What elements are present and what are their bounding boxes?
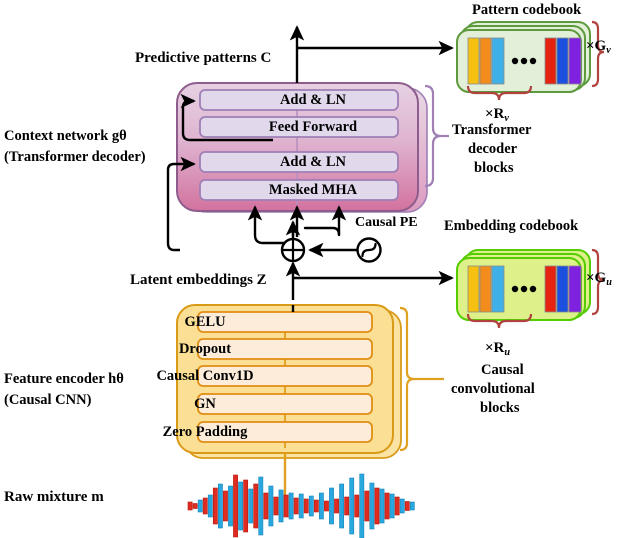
- predictive-output-arrows: [297, 27, 452, 83]
- waveform-bar: [254, 484, 258, 528]
- mha-fanout-right: [305, 228, 339, 235]
- sum-node-group: [282, 239, 304, 261]
- predictive-patterns-label: Predictive patterns C: [135, 50, 271, 68]
- embedding-ellipsis-dot-0: [512, 286, 518, 292]
- waveform-bar: [264, 493, 268, 519]
- waveform-bar: [324, 501, 328, 511]
- pattern-entry-4: [557, 38, 568, 84]
- transformer-layer-label-1: Feed Forward: [0, 119, 626, 136]
- waveform-bar: [304, 499, 308, 513]
- waveform-bar: [289, 493, 293, 519]
- waveform-bar: [360, 474, 364, 538]
- waveform-bar: [410, 502, 414, 510]
- waveform-bar: [375, 488, 379, 524]
- causal-pe-node: [358, 239, 381, 262]
- waveform-bar: [314, 500, 318, 512]
- waveform-bar: [198, 500, 202, 512]
- waveform-bar: [380, 489, 384, 523]
- pattern-entry-0: [468, 38, 479, 84]
- waveform-bar: [223, 491, 227, 521]
- waveform-bar: [340, 484, 344, 528]
- diagram-canvas: Predictive patterns C Context network gθ…: [0, 0, 626, 538]
- waveform-bar: [193, 504, 197, 509]
- waveform-bar: [218, 484, 222, 528]
- latent-embeddings-label: Latent embeddings Z: [130, 272, 267, 290]
- waveform-bar: [365, 491, 369, 521]
- embedding-entry-3: [545, 266, 556, 312]
- waveform-bar: [244, 480, 248, 532]
- embedding-codebook-title: Embedding codebook: [444, 218, 578, 235]
- waveform-bar: [203, 498, 207, 514]
- waveform-bar: [259, 477, 263, 535]
- encoder-layer-label-0: GELU: [0, 314, 518, 331]
- waveform-bar: [319, 493, 323, 519]
- diagram-svg: [0, 0, 626, 538]
- waveform-bar: [294, 498, 298, 514]
- pattern-ellipsis-dot-0: [512, 58, 518, 64]
- waveform-bar: [400, 499, 404, 513]
- causal-pe-label: Causal PE: [355, 215, 418, 232]
- encoder-layer-label-4: Zero Padding: [0, 424, 518, 441]
- transformer-layer-label-2: Add & LN: [0, 154, 626, 171]
- waveform-bar: [334, 499, 338, 513]
- waveform-bar: [269, 486, 273, 526]
- waveform-bar: [213, 488, 217, 524]
- waveform-bar: [370, 483, 374, 529]
- embedding-entry-1: [480, 266, 491, 312]
- waveform-bar: [385, 493, 389, 519]
- pattern-codebook: [457, 22, 604, 100]
- embedding-ellipsis-dot-2: [530, 286, 536, 292]
- embedding-entry-0: [468, 266, 479, 312]
- waveform-bar: [405, 502, 409, 511]
- waveform-bar: [350, 478, 354, 534]
- waveform-bar: [395, 497, 399, 515]
- waveform-bar: [274, 497, 278, 515]
- pattern-ellipsis-dot-1: [521, 58, 527, 64]
- embedding-ellipsis-dot-1: [521, 286, 527, 292]
- embedding-entry-4: [557, 266, 568, 312]
- waveform-bar: [309, 496, 313, 516]
- pattern-entry-3: [545, 38, 556, 84]
- encoder-layer-label-3: GN: [0, 396, 518, 413]
- waveform-bar: [249, 489, 253, 523]
- waveform-bar: [329, 488, 333, 524]
- waveform-bar: [299, 494, 303, 518]
- waveform-bar: [284, 495, 288, 517]
- embedding-entry-2: [492, 266, 504, 312]
- pattern-entry-1: [480, 38, 491, 84]
- waveform-bar: [228, 486, 232, 526]
- pattern-codebook-title: Pattern codebook: [472, 2, 581, 19]
- encoder-layer-label-2: Causal Conv1D: [0, 368, 518, 385]
- transformer-layer-label-0: Add & LN: [0, 92, 626, 109]
- raw-mixture-waveform: [188, 474, 414, 538]
- pattern-entry-2: [492, 38, 504, 84]
- waveform-bar: [239, 482, 243, 530]
- embedding-entry-5: [569, 266, 581, 312]
- embedding-groups-multiplier: ×Gu: [586, 270, 612, 289]
- raw-mixture-label: Raw mixture m: [4, 489, 104, 507]
- pattern-groups-multiplier: ×Gv: [586, 38, 611, 57]
- pattern-ellipsis-dot-2: [530, 58, 536, 64]
- pattern-entry-5: [569, 38, 581, 84]
- waveform-bar: [208, 495, 212, 517]
- waveform-bar: [345, 497, 349, 515]
- encoder-layer-label-1: Dropout: [0, 341, 518, 358]
- waveform-bar: [188, 502, 192, 510]
- transformer-layer-label-3: Masked MHA: [0, 182, 626, 199]
- waveform-bar: [355, 495, 359, 517]
- waveform-bar: [233, 475, 237, 537]
- waveform-bar: [390, 494, 394, 518]
- waveform-bar: [279, 490, 283, 522]
